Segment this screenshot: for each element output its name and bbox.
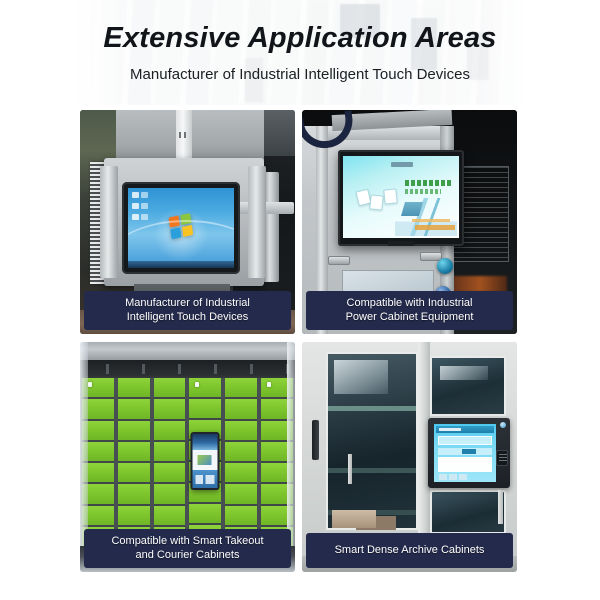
locker-door[interactable]: [118, 421, 150, 442]
application-areas-grid: Manufacturer of Industrial Intelligent T…: [80, 110, 520, 572]
locker-column[interactable]: [118, 378, 150, 546]
locker-door[interactable]: [154, 421, 186, 442]
locker-door[interactable]: [189, 399, 221, 420]
locker-door[interactable]: [154, 399, 186, 420]
panel-caption: Compatible with Smart Takeout and Courie…: [84, 529, 291, 568]
locker-door[interactable]: [118, 506, 150, 527]
locker-door[interactable]: [225, 506, 257, 527]
app-action-buttons[interactable]: [439, 474, 469, 480]
app-title-bar: [436, 426, 494, 433]
lock-icon: [267, 382, 271, 387]
locker-door[interactable]: [118, 442, 150, 463]
archive-management-screen[interactable]: [434, 424, 496, 482]
screen-logo: [391, 162, 413, 167]
widescreen-screen-content: [343, 156, 459, 238]
app-record-list[interactable]: [438, 457, 492, 472]
cabinet-latch-left: [328, 256, 350, 265]
cabinet-handle-left[interactable]: [312, 420, 319, 460]
locker-door[interactable]: [118, 399, 150, 420]
panel-caption: Smart Dense Archive Cabinets: [306, 533, 513, 568]
locker-door[interactable]: [189, 504, 221, 525]
app-toolbar[interactable]: [438, 436, 492, 445]
locker-door[interactable]: [189, 378, 221, 399]
caption-line-1: Smart Dense Archive Cabinets: [310, 543, 509, 557]
glass-door-left[interactable]: [326, 352, 418, 530]
app-search-field[interactable]: [438, 448, 492, 455]
screen-illustration: [395, 198, 457, 236]
locker-door[interactable]: [118, 378, 150, 399]
kiosk-header-banner: [193, 434, 218, 450]
locker-column[interactable]: [225, 378, 257, 546]
caption-line-1: Compatible with Industrial: [310, 296, 509, 310]
fingerprint-reader-icon[interactable]: [496, 450, 508, 466]
lock-icon: [88, 382, 92, 387]
windows-logo-icon: [169, 213, 196, 242]
locker-canopy: [80, 342, 295, 362]
locker-door[interactable]: [118, 463, 150, 484]
screen-headline-text: [405, 180, 453, 186]
locker-door[interactable]: [154, 442, 186, 463]
panel-caption: Compatible with Industrial Power Cabinet…: [306, 291, 513, 330]
locker-door[interactable]: [154, 506, 186, 527]
screen-subline-text: [405, 189, 441, 194]
caption-line-2: Intelligent Touch Devices: [88, 310, 287, 324]
cable-connector-icon: [179, 132, 189, 138]
enclosure-side-right: [248, 166, 266, 278]
locker-door[interactable]: [225, 484, 257, 505]
cabinet-handle-right[interactable]: [498, 490, 503, 524]
page-subtitle: Manufacturer of Industrial Intelligent T…: [0, 66, 600, 83]
panel-caption: Manufacturer of Industrial Intelligent T…: [84, 291, 291, 330]
locker-door[interactable]: [225, 378, 257, 399]
locker-column-with-kiosk[interactable]: [189, 378, 221, 546]
locker-door[interactable]: [225, 442, 257, 463]
locker-column[interactable]: [154, 378, 186, 546]
monitor-mount: [388, 241, 414, 246]
locker-door[interactable]: [225, 421, 257, 442]
locker-door[interactable]: [225, 463, 257, 484]
locker-canopy-shadow: [80, 360, 295, 380]
panel-industrial-touch-devices[interactable]: Manufacturer of Industrial Intelligent T…: [80, 110, 295, 334]
locker-door[interactable]: [154, 484, 186, 505]
cabinet-connector-upper: [437, 258, 453, 274]
locker-touchscreen-kiosk[interactable]: [191, 432, 220, 490]
locker-door[interactable]: [225, 399, 257, 420]
page-root: Extensive Application Areas Manufacturer…: [0, 0, 600, 600]
caption-line-2: and Courier Cabinets: [88, 548, 287, 562]
stored-archive-boxes: [332, 510, 376, 528]
header: Extensive Application Areas Manufacturer…: [0, 0, 600, 105]
panel-smart-dense-archive-cabinets[interactable]: Smart Dense Archive Cabinets: [302, 342, 517, 572]
kiosk-content-area: [193, 450, 218, 470]
glass-door-top-right[interactable]: [430, 356, 506, 416]
kiosk-button-area[interactable]: [193, 470, 218, 488]
panel-smart-takeout-courier-cabinets[interactable]: Compatible with Smart Takeout and Courie…: [80, 342, 295, 572]
windows-desktop-screen: [128, 188, 234, 268]
panel-industrial-power-cabinet[interactable]: Compatible with Industrial Power Cabinet…: [302, 110, 517, 334]
page-title: Extensive Application Areas: [0, 22, 600, 55]
caption-line-2: Power Cabinet Equipment: [310, 310, 509, 324]
desktop-icons: [132, 192, 139, 225]
locker-door[interactable]: [118, 484, 150, 505]
machine-glow: [453, 276, 507, 292]
power-led-icon: [500, 422, 506, 428]
locker-bank: [80, 378, 295, 546]
lock-icon: [195, 382, 199, 387]
caption-line-1: Manufacturer of Industrial: [88, 296, 287, 310]
cabinet-handle-middle[interactable]: [348, 454, 352, 484]
locker-door[interactable]: [154, 378, 186, 399]
caption-line-1: Compatible with Smart Takeout: [88, 534, 287, 548]
enclosure-side-left: [100, 166, 118, 278]
glass-door-bottom-right[interactable]: [430, 490, 506, 534]
taskbar: [128, 261, 234, 268]
locker-door[interactable]: [154, 463, 186, 484]
